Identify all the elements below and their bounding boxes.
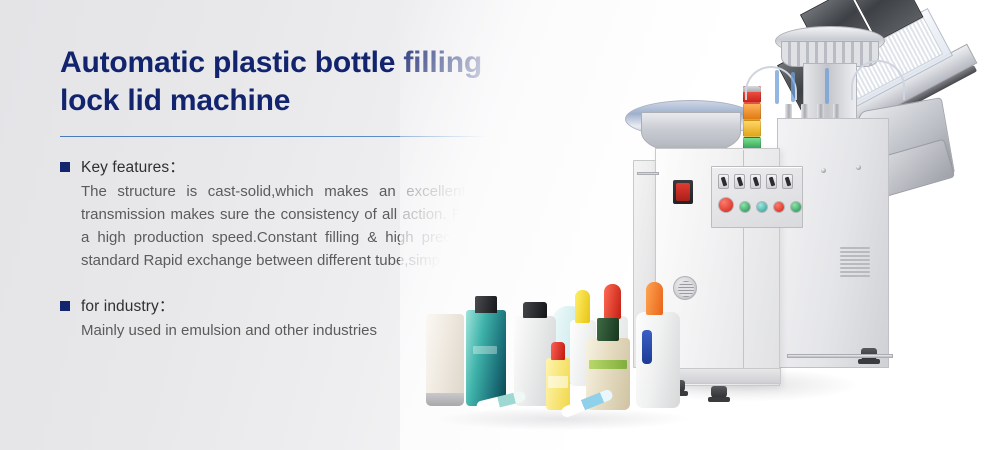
bottle-cap-red [604,284,621,319]
bottle-cap-red [551,342,565,360]
bottle-label [589,360,627,369]
section-heading-label: for industry： [81,294,174,316]
stop-button[interactable] [773,201,785,213]
tube-crimp [426,393,464,406]
bottle-small-red-yellow [546,358,570,410]
product-photo [400,0,1000,450]
main-power-switch[interactable] [673,180,693,204]
cabinet-screw [821,168,826,173]
tower-lamp-amber [743,120,761,137]
leveling-foot [711,386,727,399]
selector-knob[interactable] [766,174,777,189]
bottle-cap-black [475,296,497,313]
turret-column [803,63,857,123]
bottle-cap-green [597,318,619,341]
bottle-blue-stripe [642,330,652,364]
section-heading-label: Key features： [81,155,185,177]
product-banner: Automatic plastic bottle filling lock li… [0,0,1000,450]
air-line [825,68,829,104]
mode-button[interactable] [756,201,768,213]
bottle-teal-perfume [466,310,506,406]
selector-knob[interactable] [750,174,761,189]
tower-lamp-orange [743,103,761,120]
bottle-sample-group [420,296,690,426]
lower-frame-bar [787,354,893,358]
square-bullet-icon [60,162,70,172]
ventilation-slats [840,247,870,277]
selector-knob-row[interactable] [718,174,793,189]
bottle-body [466,310,506,406]
air-line [791,72,795,102]
square-bullet-icon [60,301,70,311]
air-line [775,70,779,104]
selector-knob[interactable] [782,174,793,189]
bottle-cap-orange [646,282,663,315]
bottle-label [473,346,497,354]
side-bracket [637,172,659,175]
bottle-orange-cap-squeeze [636,312,680,408]
panel-screw [856,165,861,170]
bottle-label [548,376,568,388]
push-button-row[interactable] [718,197,802,213]
selector-knob[interactable] [734,174,745,189]
selector-knob[interactable] [718,174,729,189]
emergency-stop-button[interactable] [718,197,734,213]
machine-mid-frame [777,118,889,368]
control-panel[interactable] [711,166,803,228]
bottle-cap-yellow [575,290,590,323]
start-button[interactable] [739,201,751,213]
bottle-cap-black [523,302,547,318]
bottle-cream-tube [426,314,464,406]
run-button[interactable] [790,201,802,213]
